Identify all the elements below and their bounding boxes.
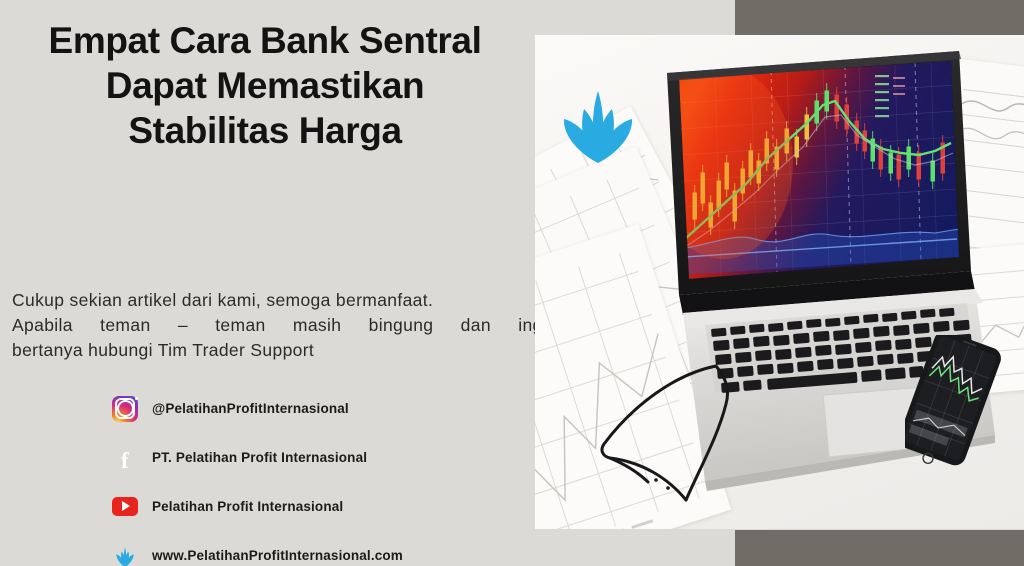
decor-band-top: [735, 0, 1024, 37]
instagram-icon[interactable]: [112, 396, 138, 422]
body-line-1: Cukup sekian artikel dari kami, semoga b…: [12, 288, 572, 313]
poster-canvas: Empat Cara Bank Sentral Dapat Memastikan…: [0, 0, 1024, 566]
facebook-icon[interactable]: f: [112, 445, 138, 471]
headline-line-2: Dapat Memastikan: [0, 63, 530, 108]
decor-band-bottom: [735, 530, 1024, 566]
body-word: teman: [215, 313, 265, 338]
body-line-2: Apabila teman – teman masih bingung dan …: [12, 313, 557, 338]
page-title: Empat Cara Bank Sentral Dapat Memastikan…: [0, 18, 530, 153]
social-label-instagram: @PelatihanProfitInternasional: [152, 401, 349, 416]
body-word: teman: [100, 313, 150, 338]
social-label-facebook: PT. Pelatihan Profit Internasional: [152, 450, 367, 465]
social-label-youtube: Pelatihan Profit Internasional: [152, 499, 343, 514]
body-line-3: bertanya hubungi Tim Trader Support: [12, 338, 572, 363]
list-item[interactable]: @PelatihanProfitInternasional: [112, 395, 532, 422]
eyeglasses: [590, 360, 790, 520]
smartphone: [905, 335, 1010, 475]
list-item[interactable]: Pelatihan Profit Internasional: [112, 493, 532, 520]
body-word: Apabila: [12, 313, 73, 338]
youtube-icon[interactable]: [112, 494, 138, 520]
website-lotus-icon[interactable]: [112, 543, 138, 566]
body-word: dan: [461, 313, 491, 338]
hero-photo: [535, 35, 1024, 529]
list-item[interactable]: f PT. Pelatihan Profit Internasional: [112, 444, 532, 471]
body-word: masih: [293, 313, 341, 338]
list-item[interactable]: www.PelatihanProfitInternasional.com: [112, 542, 532, 566]
social-links-list: @PelatihanProfitInternasional f PT. Pela…: [112, 395, 532, 566]
body-word: bingung: [369, 313, 434, 338]
body-paragraph: Cukup sekian artikel dari kami, semoga b…: [12, 288, 572, 363]
social-label-website: www.PelatihanProfitInternasional.com: [152, 548, 403, 563]
headline-line-3: Stabilitas Harga: [0, 108, 530, 153]
lotus-logo: [553, 87, 643, 165]
headline-line-1: Empat Cara Bank Sentral: [0, 18, 530, 63]
body-word: –: [178, 313, 188, 338]
